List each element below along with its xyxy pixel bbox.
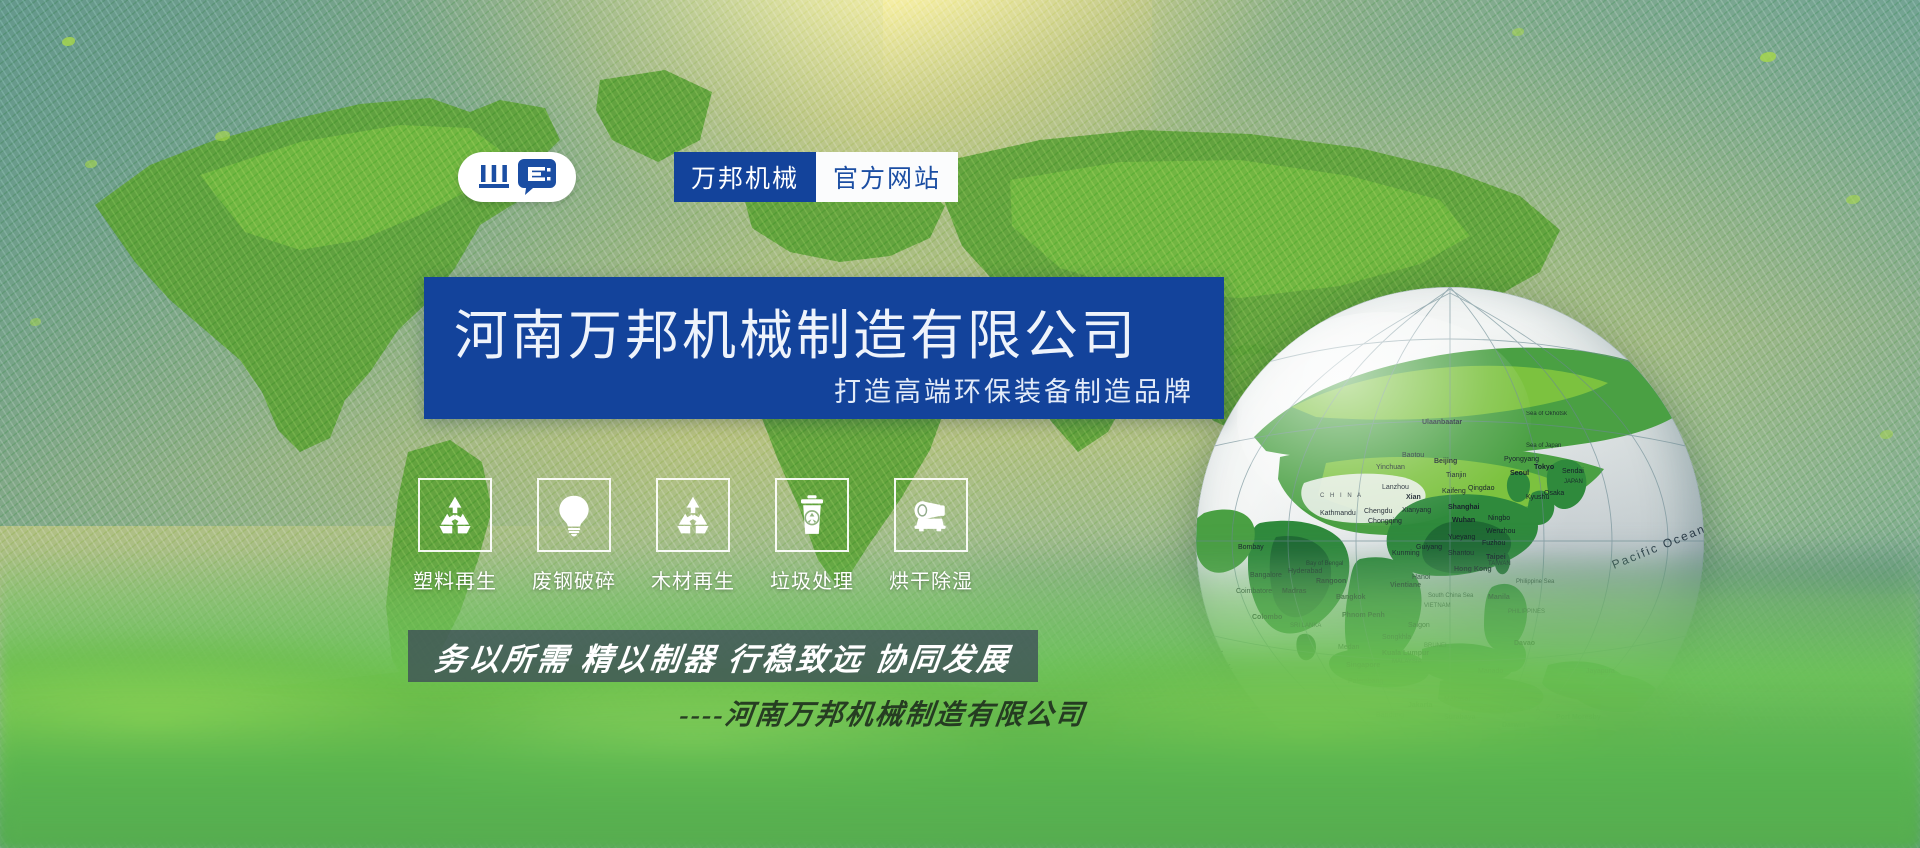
header-bar: 万邦机械 官方网站: [458, 152, 958, 202]
logo-e-icon: [517, 158, 557, 196]
slogan-text: 务以所需 精以制器 行稳致远 协同发展: [432, 634, 1014, 679]
svg-text:Xian: Xian: [1406, 494, 1421, 501]
svg-text:Baotou: Baotou: [1402, 452, 1424, 459]
wanbang-logo[interactable]: [458, 152, 576, 202]
service-icon-box[interactable]: [537, 478, 611, 552]
service-icon-box[interactable]: [418, 478, 492, 552]
header-tabs: 万邦机械 官方网站: [674, 152, 958, 202]
slogan-bar: 务以所需 精以制器 行稳致远 协同发展: [408, 630, 1038, 682]
service-item-plastic-recycling[interactable]: 塑料再生: [418, 478, 492, 594]
svg-text:Ulaanbaatar: Ulaanbaatar: [1422, 419, 1462, 426]
service-icon-row: 塑料再生 废钢破碎: [418, 478, 968, 594]
trash-bin-recycle-icon: [790, 493, 834, 537]
tab-company[interactable]: 万邦机械: [674, 152, 816, 202]
service-label: 垃圾处理: [770, 565, 854, 594]
svg-text:JAPAN: JAPAN: [1564, 479, 1583, 485]
service-icon-box[interactable]: [656, 478, 730, 552]
svg-text:Kaifeng: Kaifeng: [1442, 488, 1466, 495]
dryer-blower-icon: [909, 493, 953, 537]
recycle-icon: [671, 493, 715, 537]
service-icon-box[interactable]: [775, 478, 849, 552]
svg-text:C H I N A: C H I N A: [1320, 493, 1363, 499]
svg-text:Tianjin: Tianjin: [1446, 472, 1466, 479]
svg-text:Yueyang: Yueyang: [1448, 534, 1475, 541]
svg-text:Tokyo: Tokyo: [1534, 464, 1554, 471]
svg-text:Shanghai: Shanghai: [1448, 504, 1480, 511]
svg-text:Osaka: Osaka: [1544, 490, 1564, 497]
svg-text:Pyongyang: Pyongyang: [1504, 456, 1539, 463]
banner-stage: Ulaanbaatar Beijing Baotou Yinchuan Lanz…: [0, 0, 1920, 848]
lightbulb-icon: [552, 493, 596, 537]
service-label: 废钢破碎: [532, 565, 616, 594]
svg-text:Wenzhou: Wenzhou: [1486, 528, 1516, 535]
svg-text:Kathmandu: Kathmandu: [1320, 510, 1356, 517]
svg-text:Chengdu: Chengdu: [1364, 508, 1393, 515]
svg-text:Yinchuan: Yinchuan: [1376, 464, 1405, 471]
svg-text:Ningbo: Ningbo: [1488, 515, 1510, 522]
service-item-steel-crushing[interactable]: 废钢破碎: [537, 478, 611, 594]
service-label: 木材再生: [651, 565, 735, 594]
svg-text:Beijing: Beijing: [1434, 458, 1457, 465]
service-item-wood-recycling[interactable]: 木材再生: [656, 478, 730, 594]
recycle-icon: [433, 493, 477, 537]
company-banner: 河南万邦机械制造有限公司 打造高端环保装备制造品牌: [424, 277, 1224, 419]
svg-text:Chongqing: Chongqing: [1368, 518, 1402, 525]
logo-w-icon: [477, 162, 511, 192]
svg-text:Lanzhou: Lanzhou: [1382, 484, 1409, 491]
svg-text:Sea of Okhotsk: Sea of Okhotsk: [1526, 411, 1568, 417]
svg-text:Sea of Japan: Sea of Japan: [1526, 443, 1561, 449]
page-subtitle: 打造高端环保装备制造品牌: [834, 370, 1194, 409]
service-label: 烘干除湿: [889, 565, 973, 594]
tab-official-site[interactable]: 官方网站: [816, 152, 958, 202]
slogan-attribution: ----河南万邦机械制造有限公司: [678, 693, 1303, 733]
svg-text:Qingdao: Qingdao: [1468, 485, 1495, 492]
service-item-waste-treatment[interactable]: 垃圾处理: [775, 478, 849, 594]
svg-text:Sendai: Sendai: [1562, 468, 1584, 475]
svg-text:Seoul: Seoul: [1510, 470, 1529, 477]
service-item-drying-dehumidification[interactable]: 烘干除湿: [894, 478, 968, 594]
svg-text:Xianyang: Xianyang: [1402, 507, 1431, 514]
service-icon-box[interactable]: [894, 478, 968, 552]
page-title: 河南万邦机械制造有限公司: [454, 291, 1138, 370]
svg-text:Fuzhou: Fuzhou: [1482, 540, 1505, 547]
svg-text:Wuhan: Wuhan: [1452, 517, 1475, 524]
service-label: 塑料再生: [413, 565, 497, 594]
